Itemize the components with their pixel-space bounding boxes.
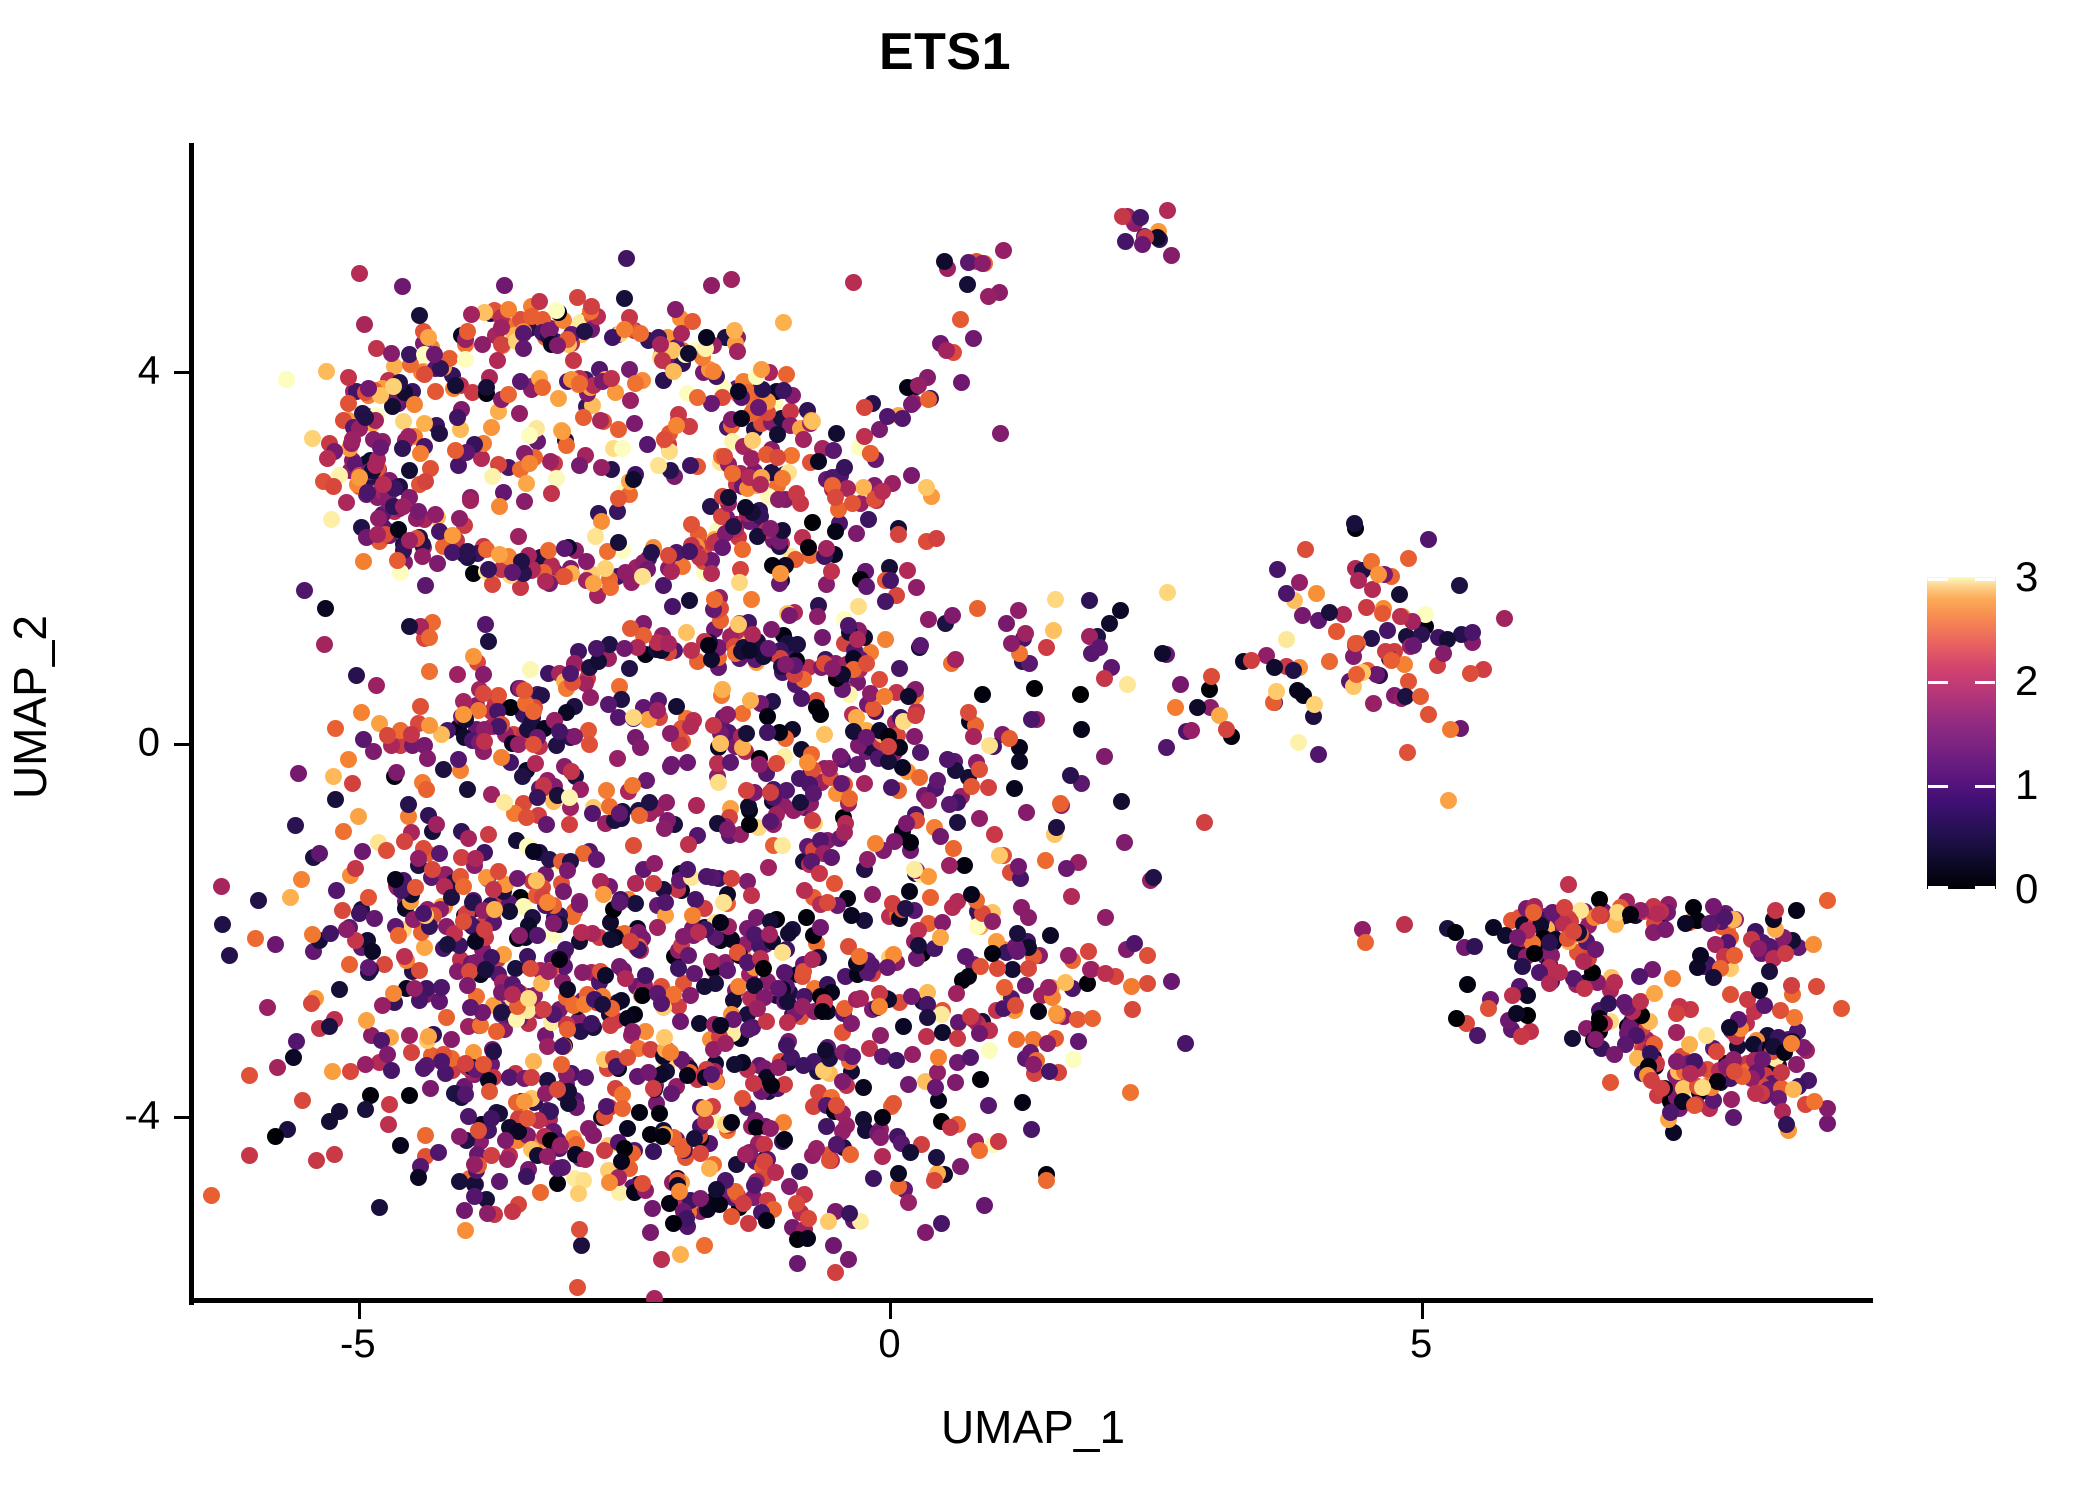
scatter-point bbox=[1030, 1003, 1047, 1020]
scatter-point bbox=[308, 1152, 325, 1169]
scatter-point bbox=[963, 886, 980, 903]
scatter-point bbox=[418, 781, 435, 798]
scatter-point bbox=[696, 1237, 713, 1254]
scatter-point bbox=[684, 907, 701, 924]
scatter-point bbox=[902, 1144, 919, 1161]
scatter-point bbox=[424, 861, 441, 878]
scatter-point bbox=[559, 981, 576, 998]
scatter-point bbox=[980, 1097, 997, 1114]
scatter-point bbox=[491, 498, 508, 515]
scatter-point bbox=[976, 1197, 993, 1214]
scatter-point bbox=[934, 1024, 951, 1041]
scatter-point bbox=[1097, 965, 1114, 982]
scatter-point bbox=[1158, 739, 1175, 756]
scatter-point bbox=[401, 1087, 418, 1104]
scatter-point bbox=[415, 1060, 432, 1077]
scatter-point bbox=[971, 810, 988, 827]
scatter-point bbox=[480, 633, 497, 650]
scatter-point bbox=[618, 250, 635, 267]
scatter-point bbox=[705, 717, 722, 734]
scatter-point bbox=[898, 815, 915, 832]
scatter-point bbox=[680, 345, 697, 362]
scatter-point bbox=[1777, 945, 1794, 962]
scatter-point bbox=[509, 870, 526, 887]
scatter-point bbox=[598, 782, 615, 799]
scatter-point bbox=[637, 967, 654, 984]
y-tick-mark bbox=[174, 371, 190, 374]
scatter-point bbox=[1462, 665, 1479, 682]
scatter-point bbox=[906, 861, 923, 878]
scatter-point bbox=[1819, 1115, 1836, 1132]
scatter-point bbox=[1587, 941, 1604, 958]
scatter-point bbox=[679, 754, 696, 771]
scatter-point bbox=[760, 859, 777, 876]
scatter-point bbox=[680, 947, 697, 964]
scatter-point bbox=[1348, 666, 1365, 683]
scatter-point bbox=[640, 1064, 657, 1081]
scatter-point bbox=[318, 363, 335, 380]
scatter-point bbox=[379, 1046, 396, 1063]
scatter-point bbox=[686, 965, 703, 982]
scatter-point bbox=[877, 631, 894, 648]
scatter-point bbox=[1496, 610, 1513, 627]
scatter-point bbox=[710, 774, 727, 791]
scatter-point bbox=[840, 617, 857, 634]
scatter-point bbox=[385, 378, 402, 395]
scatter-point bbox=[1364, 581, 1381, 598]
scatter-point bbox=[920, 611, 937, 628]
scatter-point bbox=[692, 1190, 709, 1207]
scatter-point bbox=[554, 1038, 571, 1055]
scatter-point bbox=[856, 399, 873, 416]
scatter-point bbox=[358, 1012, 375, 1029]
scatter-point bbox=[1405, 637, 1422, 654]
scatter-point bbox=[867, 835, 884, 852]
scatter-point bbox=[874, 483, 891, 500]
scatter-point bbox=[804, 514, 821, 531]
scatter-point bbox=[609, 750, 626, 767]
scatter-point bbox=[593, 513, 610, 530]
scatter-point bbox=[619, 1049, 636, 1066]
scatter-point bbox=[706, 591, 723, 608]
scatter-point bbox=[616, 290, 633, 307]
scatter-point bbox=[1063, 888, 1080, 905]
scatter-point bbox=[726, 322, 743, 339]
scatter-point bbox=[296, 582, 313, 599]
scatter-point bbox=[880, 753, 897, 770]
scatter-point bbox=[241, 1147, 258, 1164]
x-axis-title: UMAP_1 bbox=[193, 1400, 1873, 1454]
scatter-point bbox=[571, 896, 588, 913]
scatter-point bbox=[444, 527, 461, 544]
scatter-point bbox=[331, 981, 348, 998]
scatter-point bbox=[703, 565, 720, 582]
scatter-point bbox=[447, 377, 464, 394]
scatter-point bbox=[1119, 676, 1136, 693]
scatter-point bbox=[894, 410, 911, 427]
scatter-point bbox=[535, 1001, 552, 1018]
scatter-point bbox=[965, 330, 982, 347]
scatter-point bbox=[962, 1049, 979, 1066]
scatter-point bbox=[900, 1194, 917, 1211]
scatter-point bbox=[908, 579, 925, 596]
scatter-point bbox=[419, 750, 436, 767]
scatter-point bbox=[770, 1059, 787, 1076]
scatter-point bbox=[241, 1067, 258, 1084]
scatter-point bbox=[625, 471, 642, 488]
scatter-point bbox=[689, 389, 706, 406]
scatter-point bbox=[1018, 804, 1035, 821]
y-axis-title: UMAP_2 bbox=[3, 357, 57, 1057]
scatter-point bbox=[483, 1110, 500, 1127]
scatter-point bbox=[412, 698, 429, 715]
scatter-point bbox=[621, 660, 638, 677]
scatter-point bbox=[351, 265, 368, 282]
scatter-point bbox=[1785, 1081, 1802, 1098]
scatter-point bbox=[1096, 670, 1113, 687]
scatter-point bbox=[827, 523, 844, 540]
y-tick-label: -4 bbox=[124, 1093, 160, 1138]
scatter-point bbox=[653, 995, 670, 1012]
scatter-point bbox=[303, 995, 320, 1012]
scatter-point bbox=[989, 960, 1006, 977]
scatter-point bbox=[489, 352, 506, 369]
scatter-point bbox=[848, 525, 865, 542]
colorbar-tick-mark bbox=[1975, 785, 1995, 788]
scatter-point bbox=[668, 698, 685, 715]
scatter-point bbox=[321, 1018, 338, 1035]
scatter-point bbox=[527, 755, 544, 772]
scatter-point bbox=[755, 960, 772, 977]
scatter-point bbox=[776, 964, 793, 981]
scatter-point bbox=[949, 814, 966, 831]
scatter-point bbox=[1139, 947, 1156, 964]
scatter-point bbox=[972, 958, 989, 975]
scatter-point bbox=[1509, 929, 1526, 946]
scatter-point bbox=[769, 449, 786, 466]
scatter-point bbox=[1010, 858, 1027, 875]
scatter-point bbox=[598, 1098, 615, 1115]
scatter-point bbox=[1097, 909, 1114, 926]
scatter-point bbox=[767, 1164, 784, 1181]
scatter-point bbox=[278, 371, 295, 388]
scatter-point bbox=[327, 720, 344, 737]
scatter-point bbox=[667, 301, 684, 318]
x-tick-mark bbox=[358, 1303, 361, 1319]
scatter-point bbox=[996, 979, 1013, 996]
scatter-point bbox=[481, 1083, 498, 1100]
scatter-point bbox=[700, 637, 717, 654]
scatter-point bbox=[372, 439, 389, 456]
scatter-point bbox=[1047, 591, 1064, 608]
scatter-point bbox=[1726, 1063, 1743, 1080]
scatter-point bbox=[588, 640, 605, 657]
scatter-point bbox=[328, 882, 345, 899]
scatter-point bbox=[449, 666, 466, 683]
scatter-point bbox=[738, 725, 755, 742]
scatter-point bbox=[974, 686, 991, 703]
scatter-point bbox=[812, 919, 829, 936]
scatter-point bbox=[317, 600, 334, 617]
scatter-point bbox=[410, 1169, 427, 1186]
scatter-point bbox=[1370, 566, 1387, 583]
scatter-point bbox=[221, 947, 238, 964]
scatter-point bbox=[1358, 599, 1375, 616]
scatter-point bbox=[1681, 1036, 1698, 1053]
scatter-point bbox=[1723, 1091, 1740, 1108]
scatter-point bbox=[457, 351, 474, 368]
scatter-point bbox=[730, 978, 747, 995]
scatter-point bbox=[250, 892, 267, 909]
scatter-point bbox=[656, 820, 673, 837]
x-tick-label: 5 bbox=[1410, 1322, 1432, 1367]
scatter-point bbox=[462, 492, 479, 509]
scatter-point bbox=[841, 1205, 858, 1222]
scatter-point bbox=[959, 276, 976, 293]
scatter-point bbox=[569, 289, 586, 306]
scatter-point bbox=[657, 894, 674, 911]
scatter-point bbox=[941, 857, 958, 874]
scatter-point bbox=[1073, 721, 1090, 738]
scatter-point bbox=[1048, 819, 1065, 836]
scatter-point bbox=[774, 837, 791, 854]
scatter-point bbox=[880, 738, 897, 755]
scatter-point bbox=[1116, 834, 1133, 851]
scatter-point bbox=[842, 1146, 859, 1163]
scatter-point bbox=[1576, 980, 1593, 997]
scatter-point bbox=[367, 457, 384, 474]
scatter-point bbox=[900, 1076, 917, 1093]
scatter-point bbox=[665, 1215, 682, 1232]
scatter-point bbox=[401, 462, 418, 479]
scatter-point bbox=[1773, 1064, 1790, 1081]
scatter-point bbox=[639, 436, 656, 453]
scatter-point bbox=[774, 470, 791, 487]
scatter-point bbox=[684, 313, 701, 330]
scatter-point bbox=[610, 490, 627, 507]
scatter-point bbox=[478, 379, 495, 396]
scatter-point bbox=[1420, 706, 1437, 723]
scatter-point bbox=[359, 484, 376, 501]
scatter-point bbox=[1011, 753, 1028, 770]
scatter-point bbox=[574, 964, 591, 981]
scatter-point bbox=[844, 1048, 861, 1065]
scatter-point bbox=[992, 425, 1009, 442]
scatter-point bbox=[759, 724, 776, 741]
scatter-point bbox=[690, 924, 707, 941]
scatter-point bbox=[556, 568, 573, 585]
scatter-point bbox=[497, 1132, 514, 1149]
scatter-point bbox=[421, 629, 438, 646]
scatter-point bbox=[1163, 247, 1180, 264]
scatter-point bbox=[775, 382, 792, 399]
scatter-point bbox=[969, 600, 986, 617]
scatter-point bbox=[737, 499, 754, 516]
scatter-point bbox=[450, 751, 467, 768]
scatter-point bbox=[1459, 976, 1476, 993]
scatter-point bbox=[722, 754, 739, 771]
scatter-point bbox=[644, 1200, 661, 1217]
scatter-point bbox=[1756, 997, 1773, 1014]
scatter-point bbox=[808, 699, 825, 716]
scatter-point bbox=[1297, 541, 1314, 558]
scatter-point bbox=[477, 616, 494, 633]
scatter-point bbox=[1306, 696, 1323, 713]
scatter-point bbox=[926, 1172, 943, 1189]
scatter-point bbox=[912, 637, 929, 654]
scatter-point bbox=[416, 415, 433, 432]
scatter-point bbox=[1065, 1051, 1082, 1068]
scatter-point bbox=[585, 1127, 602, 1144]
scatter-point bbox=[614, 440, 631, 457]
scatter-point bbox=[1183, 722, 1200, 739]
colorbar-tick-mark bbox=[1928, 681, 1948, 684]
scatter-point bbox=[744, 432, 761, 449]
scatter-point bbox=[850, 598, 867, 615]
scatter-point bbox=[622, 392, 639, 409]
scatter-point bbox=[971, 1025, 988, 1042]
scatter-point bbox=[267, 1128, 284, 1145]
scatter-point bbox=[826, 875, 843, 892]
scatter-point bbox=[486, 901, 503, 918]
scatter-point bbox=[1750, 940, 1767, 957]
x-tick-label: 0 bbox=[878, 1322, 900, 1367]
scatter-point bbox=[1139, 975, 1156, 992]
scatter-point bbox=[625, 837, 642, 854]
scatter-point bbox=[350, 808, 367, 825]
scatter-point bbox=[834, 1073, 851, 1090]
scatter-point bbox=[294, 1092, 311, 1109]
scatter-point bbox=[543, 485, 560, 502]
scatter-point bbox=[682, 457, 699, 474]
scatter-point bbox=[688, 797, 705, 814]
scatter-point bbox=[1132, 209, 1149, 226]
y-tick-mark bbox=[174, 1116, 190, 1119]
scatter-point bbox=[355, 553, 372, 570]
scatter-point bbox=[682, 718, 699, 735]
scatter-point bbox=[971, 761, 988, 778]
scatter-point bbox=[523, 308, 540, 325]
scatter-point bbox=[534, 379, 551, 396]
scatter-point bbox=[864, 886, 881, 903]
scatter-point bbox=[1435, 645, 1452, 662]
scatter-point bbox=[851, 948, 868, 965]
scatter-point bbox=[703, 277, 720, 294]
scatter-point bbox=[872, 1027, 889, 1044]
scatter-point bbox=[682, 987, 699, 1004]
scatter-point bbox=[1565, 923, 1582, 940]
scatter-point bbox=[858, 729, 875, 746]
scatter-point bbox=[430, 1144, 447, 1161]
scatter-point bbox=[426, 346, 443, 363]
colorbar-tick-mark bbox=[1928, 578, 1948, 581]
scatter-point bbox=[1575, 953, 1592, 970]
scatter-point bbox=[522, 661, 539, 678]
scatter-point bbox=[578, 553, 595, 570]
x-tick-mark bbox=[889, 1303, 892, 1319]
scatter-point bbox=[679, 1067, 696, 1084]
scatter-point bbox=[1600, 995, 1617, 1012]
scatter-point bbox=[901, 883, 918, 900]
scatter-point bbox=[651, 1105, 668, 1122]
scatter-point bbox=[858, 578, 875, 595]
scatter-point bbox=[995, 242, 1012, 259]
scatter-point bbox=[516, 1093, 533, 1110]
scatter-point bbox=[575, 409, 592, 426]
scatter-point bbox=[368, 677, 385, 694]
scatter-point bbox=[818, 540, 835, 557]
scatter-point bbox=[457, 1055, 474, 1072]
scatter-point bbox=[956, 857, 973, 874]
scatter-point bbox=[680, 836, 697, 853]
scatter-point bbox=[267, 936, 284, 953]
scatter-point bbox=[717, 1035, 734, 1052]
scatter-point bbox=[1004, 961, 1021, 978]
scatter-point bbox=[433, 1053, 450, 1070]
scatter-point bbox=[912, 744, 929, 761]
scatter-point bbox=[828, 1097, 845, 1114]
scatter-point bbox=[403, 1044, 420, 1061]
scatter-point bbox=[1379, 622, 1396, 639]
scatter-point bbox=[488, 1023, 505, 1040]
scatter-point bbox=[366, 910, 383, 927]
scatter-point bbox=[1017, 977, 1034, 994]
scatter-point bbox=[816, 726, 833, 743]
scatter-point bbox=[341, 956, 358, 973]
scatter-point bbox=[675, 928, 692, 945]
scatter-point bbox=[322, 925, 339, 942]
scatter-point bbox=[570, 1185, 587, 1202]
scatter-point bbox=[501, 903, 518, 920]
scatter-point bbox=[285, 1049, 302, 1066]
scatter-point bbox=[347, 860, 364, 877]
scatter-point bbox=[1761, 963, 1778, 980]
scatter-point bbox=[886, 833, 903, 850]
scatter-point bbox=[862, 445, 879, 462]
scatter-point bbox=[791, 1163, 808, 1180]
scatter-point bbox=[1172, 676, 1189, 693]
scatter-point bbox=[1442, 721, 1459, 738]
scatter-point bbox=[1291, 574, 1308, 591]
scatter-point bbox=[510, 528, 527, 545]
colorbar-tick-mark bbox=[1975, 681, 1995, 684]
scatter-point bbox=[549, 1081, 566, 1098]
scatter-point bbox=[749, 1000, 766, 1017]
scatter-point bbox=[1705, 969, 1722, 986]
scatter-point bbox=[949, 1030, 966, 1047]
scatter-point bbox=[551, 951, 568, 968]
x-tick-mark bbox=[1421, 1303, 1424, 1319]
scatter-point bbox=[587, 528, 604, 545]
scatter-point bbox=[214, 916, 231, 933]
scatter-point bbox=[918, 1028, 935, 1045]
scatter-point bbox=[327, 791, 344, 808]
scatter-point bbox=[859, 851, 876, 868]
scatter-point bbox=[340, 369, 357, 386]
scatter-point bbox=[576, 323, 593, 340]
scatter-point bbox=[602, 1017, 619, 1034]
scatter-point bbox=[731, 574, 748, 591]
scatter-point bbox=[203, 1187, 220, 1204]
scatter-point bbox=[845, 274, 862, 291]
scatter-point bbox=[484, 576, 501, 593]
scatter-point bbox=[696, 1100, 713, 1117]
scatter-point bbox=[602, 579, 619, 596]
scatter-point bbox=[1177, 1035, 1194, 1052]
scatter-point bbox=[876, 688, 893, 705]
scatter-point bbox=[447, 442, 464, 459]
scatter-point bbox=[836, 824, 853, 841]
